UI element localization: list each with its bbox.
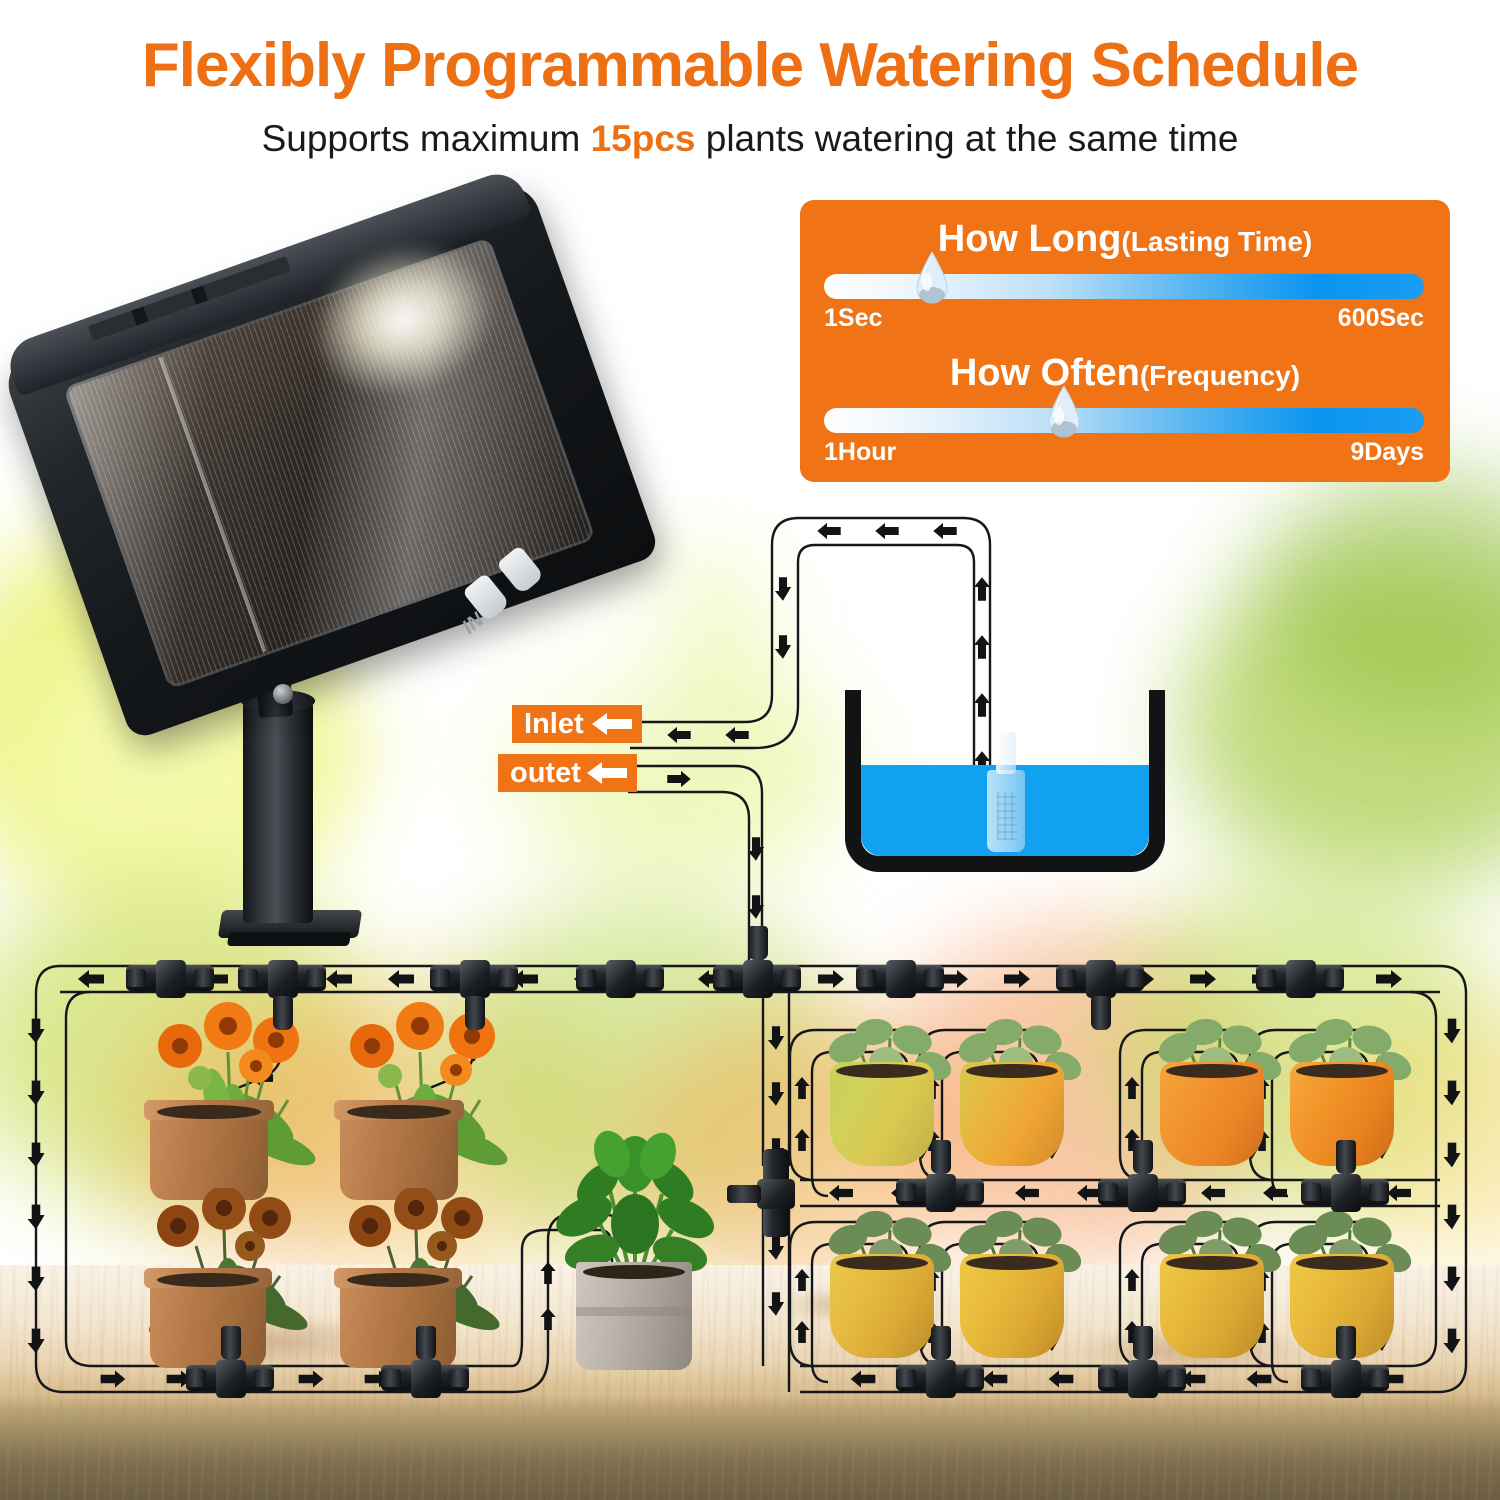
tube-tee-connector: [1301, 1365, 1389, 1395]
pot-2: [340, 1100, 458, 1200]
pot-3: [150, 1268, 266, 1368]
subtitle-after: plants watering at the same time: [695, 118, 1238, 159]
tube-tee-connector-vertical: [761, 1149, 791, 1237]
pot-1: [150, 1100, 268, 1200]
inlet-callout: Inlet: [512, 705, 642, 743]
tube-tee-connector: [1056, 965, 1144, 995]
tube-tee-connector: [896, 1179, 984, 1209]
device-base-plate-shadow: [227, 932, 351, 946]
page-subtitle: Supports maximum 15pcs plants watering a…: [0, 118, 1500, 160]
pot-r5: [830, 1254, 934, 1358]
water-reservoir: [845, 690, 1165, 872]
tube-tee-connector: [1256, 965, 1344, 995]
subtitle-highlight: 15pcs: [591, 118, 696, 159]
frequency-min-label: 1Hour: [824, 438, 896, 467]
tube-tee-connector: [1098, 1179, 1186, 1209]
device-housing: IN: [0, 177, 671, 769]
how-long-heading-sub: (Lasting Time): [1121, 226, 1312, 257]
outlet-callout-label: outet: [510, 759, 581, 788]
pot-r2: [960, 1062, 1064, 1166]
outlet-callout: outet: [498, 754, 637, 792]
pot-r1: [830, 1062, 934, 1166]
subtitle-before: Supports maximum: [262, 118, 591, 159]
product-infographic: Flexibly Programmable Watering Schedule …: [0, 0, 1500, 1500]
tube-tee-connector: [430, 965, 518, 995]
inlet-callout-label: Inlet: [524, 710, 584, 739]
tube-tee-connector: [576, 965, 664, 995]
pot-4: [340, 1268, 456, 1368]
device-hinge-screw: [273, 684, 293, 704]
left-arrow-icon-2: [585, 760, 629, 786]
frequency-track[interactable]: [824, 408, 1424, 433]
device-mounting-stake: [243, 698, 313, 923]
pot-r6: [960, 1254, 1064, 1358]
frequency-max-label: 9Days: [1350, 438, 1424, 467]
frequency-handle-droplet-icon[interactable]: [1044, 385, 1084, 440]
lasting-time-slider[interactable]: 1Sec 600Sec: [824, 274, 1424, 300]
how-often-heading-sub: (Frequency): [1140, 360, 1300, 391]
page-title: Flexibly Programmable Watering Schedule: [0, 30, 1500, 101]
how-long-heading-main: How Long: [938, 218, 1122, 260]
intake-filter-icon: [987, 732, 1025, 852]
how-often-heading: How Often(Frequency): [800, 352, 1450, 395]
tube-tee-connector: [381, 1365, 469, 1395]
tube-tee-connector: [126, 965, 214, 995]
how-long-heading: How Long(Lasting Time): [800, 218, 1450, 261]
tube-tee-connector: [1098, 1365, 1186, 1395]
tube-tee-connector: [238, 965, 326, 995]
pot-basil: [576, 1262, 692, 1370]
frequency-slider[interactable]: 1Hour 9Days: [824, 408, 1424, 434]
lasting-time-max-label: 600Sec: [1338, 304, 1424, 333]
solar-watering-timer-device: IN: [45, 250, 665, 970]
tube-tee-connector: [713, 965, 801, 995]
tube-tee-connector: [1301, 1179, 1389, 1209]
schedule-settings-panel: How Long(Lasting Time) 1Sec 600Sec How O…: [800, 200, 1450, 482]
tube-tee-connector: [856, 965, 944, 995]
pot-r3: [1160, 1062, 1264, 1166]
pot-r7: [1160, 1254, 1264, 1358]
tube-tee-connector: [186, 1365, 274, 1395]
tube-tee-connector: [896, 1365, 984, 1395]
lasting-time-min-label: 1Sec: [824, 304, 882, 333]
left-arrow-icon: [590, 711, 634, 737]
lasting-time-handle-droplet-icon[interactable]: [912, 251, 952, 306]
